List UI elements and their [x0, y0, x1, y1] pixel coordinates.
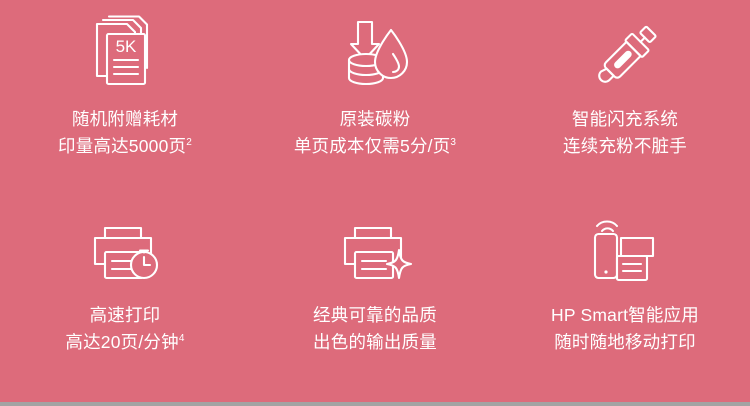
feature-line-2: 连续充粉不脏手 [563, 133, 687, 160]
mobile-wifi-printer-icon [583, 206, 667, 298]
bottom-strip [0, 402, 750, 406]
feature-line-1: 原装碳粉 [294, 106, 456, 133]
feature-grid: 5K 随机附赠耗材 印量高达5000页2 [0, 0, 750, 402]
feature-card-supplies: 5K 随机附赠耗材 印量高达5000页2 [0, 0, 250, 160]
feature-text: 智能闪充系统 连续充粉不脏手 [563, 106, 687, 160]
printer-stopwatch-icon [83, 206, 167, 298]
toner-drop-coins-icon [333, 10, 417, 102]
feature-card-quality: 经典可靠的品质 出色的输出质量 [250, 196, 500, 356]
feature-text: 随机附赠耗材 印量高达5000页2 [58, 106, 192, 160]
feature-text: HP Smart智能应用 随时随地移动打印 [551, 302, 699, 356]
footnote-marker: 2 [186, 137, 192, 148]
syringe-refill-icon [583, 10, 667, 102]
document-stack-5k-icon: 5K [83, 10, 167, 102]
feature-card-speed: 高速打印 高达20页/分钟4 [0, 196, 250, 356]
feature-line-1: HP Smart智能应用 [551, 302, 699, 329]
feature-text: 高速打印 高达20页/分钟4 [65, 302, 184, 356]
feature-line-1: 随机附赠耗材 [58, 106, 192, 133]
feature-line-2: 单页成本仅需5分/页3 [294, 133, 456, 160]
footnote-marker: 4 [179, 333, 185, 344]
feature-line-1: 智能闪充系统 [563, 106, 687, 133]
feature-line-2: 高达20页/分钟4 [65, 329, 184, 356]
feature-card-mobile: HP Smart智能应用 随时随地移动打印 [500, 196, 750, 356]
feature-line-2: 出色的输出质量 [313, 329, 437, 356]
svg-text:5K: 5K [116, 37, 137, 56]
promo-banner: 5K 随机附赠耗材 印量高达5000页2 [0, 0, 750, 406]
feature-card-refill: 智能闪充系统 连续充粉不脏手 [500, 0, 750, 160]
feature-line-1: 经典可靠的品质 [313, 302, 437, 329]
feature-text: 原装碳粉 单页成本仅需5分/页3 [294, 106, 456, 160]
feature-line-2: 印量高达5000页2 [58, 133, 192, 160]
footnote-marker: 3 [450, 137, 456, 148]
feature-line-2: 随时随地移动打印 [551, 329, 699, 356]
printer-sparkle-icon [333, 206, 417, 298]
feature-line-1: 高速打印 [65, 302, 184, 329]
feature-text: 经典可靠的品质 出色的输出质量 [313, 302, 437, 356]
feature-card-toner: 原装碳粉 单页成本仅需5分/页3 [250, 0, 500, 160]
